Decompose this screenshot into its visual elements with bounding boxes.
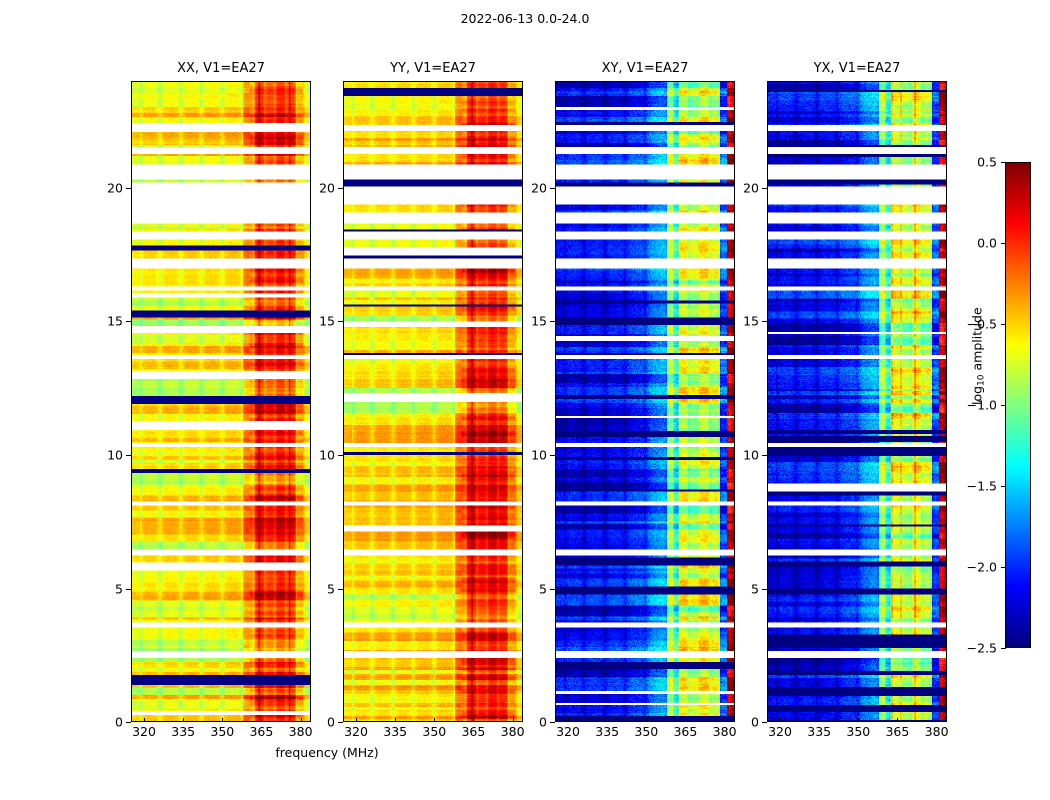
- colorbar-tick-1: [1001, 243, 1006, 244]
- x-tick-0-3: [261, 718, 262, 722]
- y-tick-3-3: [762, 321, 767, 322]
- y-tick-0-3: [126, 321, 131, 322]
- x-tick-label-3-0: 320: [768, 724, 792, 739]
- y-tick-0-0: [126, 722, 131, 723]
- y-tick-label-1-4: 20: [299, 180, 335, 195]
- y-tick-1-0: [338, 722, 343, 723]
- colorbar-tick-2: [1001, 324, 1006, 325]
- x-tick-1-1: [395, 718, 396, 722]
- y-tick-label-1-3: 15: [299, 314, 335, 329]
- y-tick-label-0-0: 0: [87, 715, 123, 730]
- x-tick-2-0: [568, 718, 569, 722]
- y-tick-label-2-4: 20: [511, 180, 547, 195]
- x-tick-label-1-1: 335: [383, 724, 407, 739]
- x-tick-label-2-3: 365: [673, 724, 697, 739]
- colorbar-tick-5: [1001, 567, 1006, 568]
- x-tick-label-2-1: 335: [595, 724, 619, 739]
- x-tick-1-2: [434, 718, 435, 722]
- y-tick-2-1: [550, 589, 555, 590]
- y-tick-label-3-1: 5: [723, 581, 759, 596]
- y-tick-1-3: [338, 321, 343, 322]
- x-tick-label-3-2: 350: [846, 724, 870, 739]
- y-tick-label-0-3: 15: [87, 314, 123, 329]
- y-tick-3-1: [762, 589, 767, 590]
- y-tick-2-2: [550, 455, 555, 456]
- y-tick-2-0: [550, 722, 555, 723]
- x-tick-2-3: [685, 718, 686, 722]
- heatmap-image-xy: [556, 82, 734, 721]
- colorbar[interactable]: [1005, 162, 1031, 648]
- y-tick-label-0-1: 5: [87, 581, 123, 596]
- y-tick-label-1-1: 5: [299, 581, 335, 596]
- y-tick-0-4: [126, 188, 131, 189]
- colorbar-label-sub: 10: [977, 374, 987, 385]
- colorbar-tick-label-6: −2.5: [957, 641, 997, 656]
- x-tick-0-2: [222, 718, 223, 722]
- heatmap-image-yx: [768, 82, 946, 721]
- y-tick-label-0-2: 10: [87, 447, 123, 462]
- x-tick-1-3: [473, 718, 474, 722]
- x-tick-label-1-2: 350: [422, 724, 446, 739]
- y-tick-1-1: [338, 589, 343, 590]
- heatmap-panel-yx[interactable]: [767, 81, 947, 722]
- x-tick-0-0: [144, 718, 145, 722]
- x-tick-label-2-2: 350: [634, 724, 658, 739]
- x-tick-label-3-4: 380: [925, 724, 949, 739]
- y-tick-1-2: [338, 455, 343, 456]
- panel-title-yy: YY, V1=EA27: [343, 60, 523, 78]
- y-tick-label-2-0: 0: [511, 715, 547, 730]
- panel-title-yx: YX, V1=EA27: [767, 60, 947, 78]
- x-tick-label-1-0: 320: [344, 724, 368, 739]
- colorbar-tick-label-4: −1.5: [957, 479, 997, 494]
- y-tick-label-3-0: 0: [723, 715, 759, 730]
- heatmap-image-yy: [344, 82, 522, 721]
- panel-title-xy: XY, V1=EA27: [555, 60, 735, 78]
- x-tick-label-0-1: 335: [171, 724, 195, 739]
- x-tick-label-3-1: 335: [807, 724, 831, 739]
- x-tick-3-4: [937, 718, 938, 722]
- x-tick-3-2: [858, 718, 859, 722]
- x-tick-0-1: [183, 718, 184, 722]
- x-axis-label: frequency (MHz): [0, 745, 654, 760]
- colorbar-label-prefix: log: [970, 386, 985, 405]
- y-tick-label-0-4: 20: [87, 180, 123, 195]
- y-tick-label-3-3: 15: [723, 314, 759, 329]
- y-tick-1-4: [338, 188, 343, 189]
- colorbar-gradient: [1006, 163, 1030, 647]
- x-tick-label-3-3: 365: [885, 724, 909, 739]
- y-tick-label-1-2: 10: [299, 447, 335, 462]
- colorbar-tick-6: [1001, 648, 1006, 649]
- x-tick-2-1: [607, 718, 608, 722]
- x-tick-label-2-0: 320: [556, 724, 580, 739]
- colorbar-label: log10 amplitude: [970, 307, 985, 405]
- y-tick-3-2: [762, 455, 767, 456]
- colorbar-label-suffix: amplitude: [970, 307, 985, 374]
- x-tick-label-0-3: 365: [249, 724, 273, 739]
- figure-suptitle: 2022-06-13 0.0-24.0: [0, 11, 1050, 26]
- x-tick-3-1: [819, 718, 820, 722]
- y-tick-label-2-3: 15: [511, 314, 547, 329]
- heatmap-image-xx: [132, 82, 310, 721]
- y-tick-0-1: [126, 589, 131, 590]
- y-tick-3-0: [762, 722, 767, 723]
- x-tick-2-2: [646, 718, 647, 722]
- colorbar-tick-label-5: −2.0: [957, 560, 997, 575]
- panel-title-xx: XX, V1=EA27: [131, 60, 311, 78]
- y-tick-label-2-1: 5: [511, 581, 547, 596]
- y-tick-2-3: [550, 321, 555, 322]
- figure-canvas: 2022-06-13 0.0-24.0 XX, V1=EA27 YY, V1=E…: [0, 0, 1050, 800]
- y-tick-label-3-4: 20: [723, 180, 759, 195]
- colorbar-tick-label-0: 0.5: [957, 155, 997, 170]
- x-tick-3-3: [897, 718, 898, 722]
- heatmap-panel-xx[interactable]: [131, 81, 311, 722]
- heatmap-panel-yy[interactable]: [343, 81, 523, 722]
- y-tick-label-2-2: 10: [511, 447, 547, 462]
- y-tick-2-4: [550, 188, 555, 189]
- heatmap-panel-xy[interactable]: [555, 81, 735, 722]
- y-tick-label-1-0: 0: [299, 715, 335, 730]
- x-tick-1-0: [356, 718, 357, 722]
- colorbar-tick-3: [1001, 405, 1006, 406]
- colorbar-tick-4: [1001, 486, 1006, 487]
- y-tick-0-2: [126, 455, 131, 456]
- x-tick-label-1-3: 365: [461, 724, 485, 739]
- x-tick-label-0-2: 350: [210, 724, 234, 739]
- x-tick-label-0-0: 320: [132, 724, 156, 739]
- y-tick-3-4: [762, 188, 767, 189]
- y-tick-label-3-2: 10: [723, 447, 759, 462]
- colorbar-tick-0: [1001, 162, 1006, 163]
- colorbar-tick-label-1: 0.0: [957, 236, 997, 251]
- x-tick-3-0: [780, 718, 781, 722]
